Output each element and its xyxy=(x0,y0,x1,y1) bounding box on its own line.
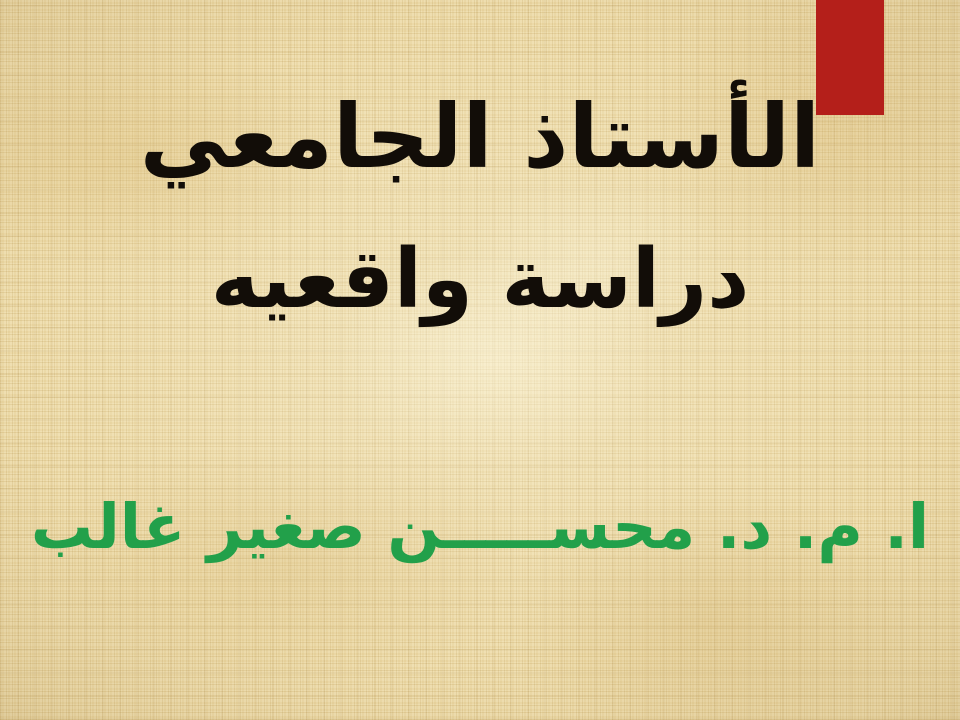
title-slide: الأستاذ الجامعي دراسة واقعيه ا. م. د. مح… xyxy=(0,0,960,720)
title-line-2: دراسة واقعيه xyxy=(0,238,960,322)
author-name: ا. م. د. محســـــن صغير غالب xyxy=(0,494,960,559)
title-line-1: الأستاذ الجامعي xyxy=(0,92,960,182)
